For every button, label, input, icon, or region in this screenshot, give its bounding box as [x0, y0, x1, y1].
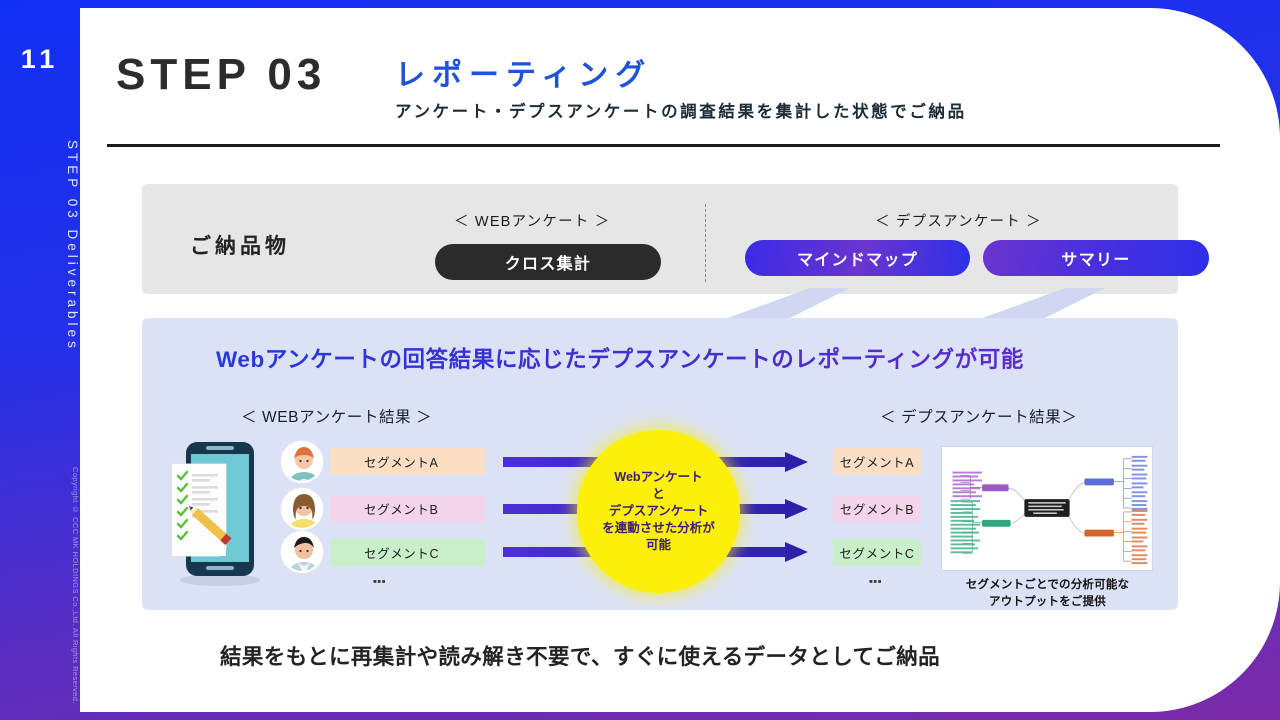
deliverables-band [142, 184, 1178, 294]
pill-mind-map[interactable]: マインドマップ [745, 240, 970, 276]
mindmap-caption-line2: アウトプットをご提供 [920, 594, 1175, 611]
section-heading-web: ＜ WEBアンケート結果 ＞ [241, 405, 432, 427]
segment-bar-left-b: セグメントB [330, 495, 485, 522]
segment-bar-left-a: セグメントA [330, 448, 485, 475]
circle-line-3: デプスアンケート [609, 503, 709, 520]
mindmap-caption: セグメントごとでの分析可能な アウトプットをご提供 [920, 577, 1175, 612]
copyright-notice: Copyright © CCC MK HOLDINGS Co.,Ltd. All… [0, 460, 80, 710]
deliverables-web-heading: ＜ WEBアンケート ＞ [454, 210, 610, 231]
segment-bar-right-c: セグメントC [833, 539, 921, 566]
panel-headline: Webアンケートの回答結果に応じたデプスアンケートのレポーティングが可能 [0, 342, 1240, 374]
pill-summary[interactable]: サマリー [983, 240, 1209, 276]
segment-bar-left-c: セグメントC [330, 539, 485, 566]
page-number: 11 [0, 44, 80, 75]
highlight-circle: Webアンケート と デプスアンケート を連動させた分析が 可能 [577, 430, 740, 593]
page-title: レポーティング [395, 50, 652, 94]
step-number-heading: STEP 03 [116, 50, 326, 100]
ellipsis-left: ⋮ [376, 574, 380, 589]
smartphone-survey-illustration [168, 440, 268, 588]
circle-line-5: 可能 [646, 537, 671, 554]
avatar-segment-c [281, 531, 323, 573]
page-subtitle: アンケート・デプスアンケートの調査結果を集計した状態でご納品 [395, 98, 967, 122]
segment-bar-right-a: セグメントA [833, 448, 921, 475]
footer-message: 結果をもとに再集計や読み解き不要で、すぐに使えるデータとしてご納品 [62, 640, 1098, 671]
pill-cross-tabulation[interactable]: クロス集計 [435, 244, 661, 280]
circle-line-1: Webアンケート [614, 469, 702, 486]
deliverables-depth-heading: ＜ デプスアンケート ＞ [875, 210, 1042, 231]
mindmap-caption-line1: セグメントごとでの分析可能な [920, 577, 1175, 594]
segment-bar-right-b: セグメントB [833, 495, 921, 522]
deliverables-label: ご納品物 [190, 230, 290, 260]
avatar-segment-b [281, 488, 323, 530]
ellipsis-right: ⋮ [872, 574, 876, 589]
mindmap-thumbnail[interactable] [941, 446, 1153, 571]
avatar-segment-a [281, 441, 323, 483]
section-heading-depth: ＜ デプスアンケート結果＞ [880, 405, 1078, 427]
band-dashed-divider [705, 204, 706, 282]
circle-line-2: と [652, 486, 665, 503]
circle-line-4: を連動させた分析が [602, 520, 715, 537]
header-divider [107, 144, 1220, 147]
